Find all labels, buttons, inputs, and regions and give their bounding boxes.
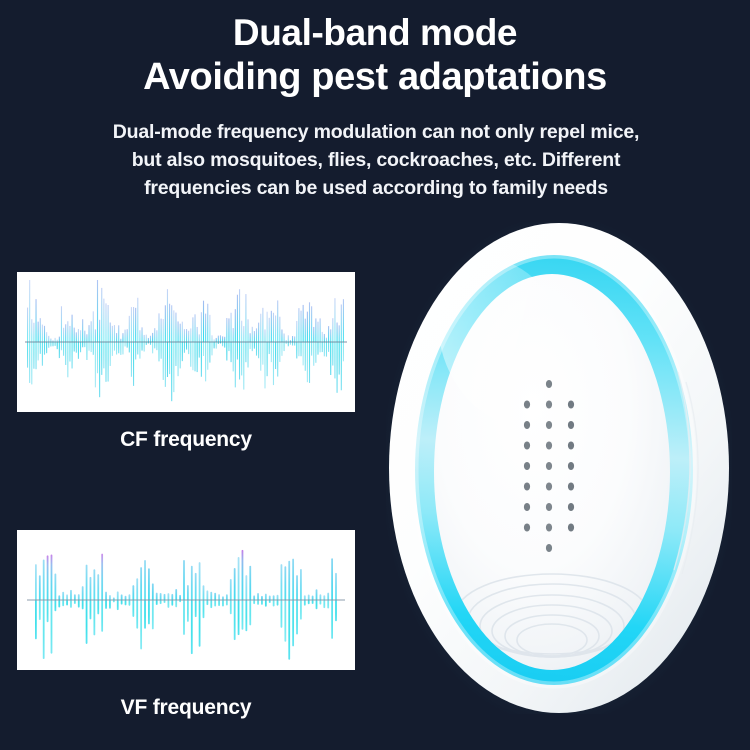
device-graphic: [386, 222, 732, 714]
headline-line-1: Dual-band mode: [0, 10, 750, 55]
description-line-1: Dual-mode frequency modulation can not o…: [42, 118, 710, 146]
cf-frequency-label: CF frequency: [17, 428, 355, 452]
cf-frequency-waveform-card: [17, 272, 355, 412]
description-paragraph: Dual-mode frequency modulation can not o…: [42, 118, 710, 202]
vf-frequency-label: VF frequency: [17, 696, 355, 720]
headline-block: Dual-band mode Avoiding pest adaptations: [0, 10, 750, 100]
vf-waveform-graphic: [17, 530, 355, 670]
description-line-3: frequencies can be used according to fam…: [42, 174, 710, 202]
cf-waveform-graphic: [17, 272, 355, 412]
product-infographic: Dual-band mode Avoiding pest adaptations…: [0, 0, 750, 750]
description-line-2: but also mosquitoes, flies, cockroaches,…: [42, 146, 710, 174]
headline-line-2: Avoiding pest adaptations: [0, 55, 750, 100]
vf-frequency-waveform-card: [17, 530, 355, 670]
pest-repeller-device: [386, 222, 732, 714]
